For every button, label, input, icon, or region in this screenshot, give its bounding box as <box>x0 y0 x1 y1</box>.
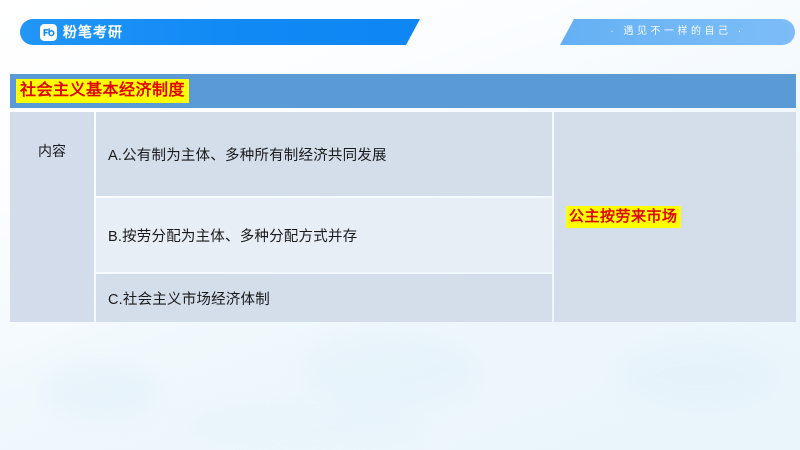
brand-name: 粉笔考研 <box>63 25 123 39</box>
brand-banner: 粉笔考研 <box>20 19 420 45</box>
section-title-bar: 社会主义基本经济制度 <box>10 74 796 108</box>
table-items-column: A.公有制为主体、多种所有制经济共同发展 B.按劳分配为主体、多种分配方式并存 … <box>96 112 552 322</box>
tagline-banner: · 遇见不一样的自己 · <box>560 19 795 45</box>
table-row-label: 内容 <box>38 144 66 158</box>
table-row: C.社会主义市场经济体制 <box>96 274 552 322</box>
slide-header: 粉笔考研 · 遇见不一样的自己 · <box>0 0 800 62</box>
slide-root: 粉笔考研 · 遇见不一样的自己 · 社会主义基本经济制度 内容 A.公有制为主体… <box>0 0 800 450</box>
fenbi-logo-icon <box>40 24 57 41</box>
background-decoration <box>180 400 420 450</box>
background-decoration <box>620 340 780 410</box>
table-cell-text: A.公有制为主体、多种所有制经济共同发展 <box>108 144 387 165</box>
table-cell-text: C.社会主义市场经济体制 <box>108 288 270 309</box>
mnemonic-text: 公主按劳来市场 <box>566 206 681 229</box>
mnemonic-cell: 公主按劳来市场 <box>554 112 796 322</box>
content-table: 内容 A.公有制为主体、多种所有制经济共同发展 B.按劳分配为主体、多种分配方式… <box>10 112 796 322</box>
table-row-label-cell: 内容 <box>10 112 94 322</box>
table-row: B.按劳分配为主体、多种分配方式并存 <box>96 198 552 272</box>
background-decoration <box>300 330 480 410</box>
table-row: A.公有制为主体、多种所有制经济共同发展 <box>96 112 552 196</box>
tagline-text: · 遇见不一样的自己 · <box>610 27 744 37</box>
table-cell-text: B.按劳分配为主体、多种分配方式并存 <box>108 225 357 246</box>
background-decoration <box>40 360 160 420</box>
page-title: 社会主义基本经济制度 <box>16 79 189 104</box>
